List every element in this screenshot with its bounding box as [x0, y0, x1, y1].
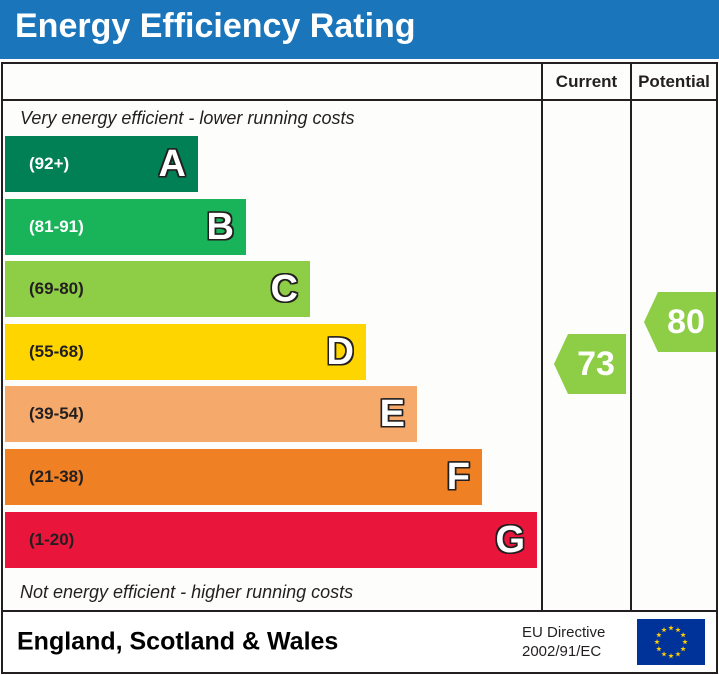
column-header-potential: Potential	[630, 64, 718, 101]
eu-flag-icon	[637, 619, 705, 665]
band-bar-a: (92+)A	[5, 136, 198, 192]
band-range-b: (81-91)	[29, 217, 84, 237]
band-bar-b: (81-91)B	[5, 199, 246, 255]
table-header-row: Current Potential	[3, 64, 716, 101]
band-letter-e: E	[380, 395, 405, 433]
band-bar-f: (21-38)F	[5, 449, 482, 505]
band-letter-a: A	[159, 145, 186, 183]
band-letter-c: C	[271, 270, 298, 308]
band-bar-c: (69-80)C	[5, 261, 310, 317]
band-letter-f: F	[447, 458, 470, 496]
potential-rating-badge: 80	[644, 292, 716, 352]
title-bar: Energy Efficiency Rating	[0, 0, 719, 59]
band-bar-g: (1-20)G	[5, 512, 537, 568]
eu-directive-text: EU Directive 2002/91/EC	[522, 623, 605, 661]
column-divider-current	[541, 64, 543, 610]
bands-column: Very energy efficient - lower running co…	[3, 101, 541, 610]
band-range-a: (92+)	[29, 154, 69, 174]
page-title: Energy Efficiency Rating	[15, 7, 416, 46]
region-label: England, Scotland & Wales	[17, 628, 338, 657]
energy-efficiency-certificate: Energy Efficiency Rating Current Potenti…	[0, 0, 719, 675]
band-range-f: (21-38)	[29, 467, 84, 487]
column-divider-potential	[630, 64, 632, 610]
column-header-current: Current	[541, 64, 632, 101]
band-range-g: (1-20)	[29, 530, 74, 550]
band-letter-d: D	[327, 333, 354, 371]
band-range-e: (39-54)	[29, 404, 84, 424]
footer-bar: England, Scotland & Wales EU Directive 2…	[1, 610, 718, 674]
eu-directive-line-1: EU Directive	[522, 623, 605, 642]
band-bar-e: (39-54)E	[5, 386, 417, 442]
band-range-d: (55-68)	[29, 342, 84, 362]
note-inefficient: Not energy efficient - higher running co…	[3, 575, 541, 610]
eu-directive-line-2: 2002/91/EC	[522, 642, 605, 661]
band-letter-b: B	[207, 208, 234, 246]
band-bars: (92+)A(81-91)B(69-80)C(55-68)D(39-54)E(2…	[3, 136, 541, 575]
band-bar-d: (55-68)D	[5, 324, 366, 380]
band-letter-g: G	[495, 521, 525, 559]
note-efficient: Very energy efficient - lower running co…	[3, 101, 541, 136]
rating-table: Current Potential Very energy efficient …	[1, 62, 718, 612]
current-rating-badge: 73	[554, 334, 626, 394]
band-range-c: (69-80)	[29, 279, 84, 299]
